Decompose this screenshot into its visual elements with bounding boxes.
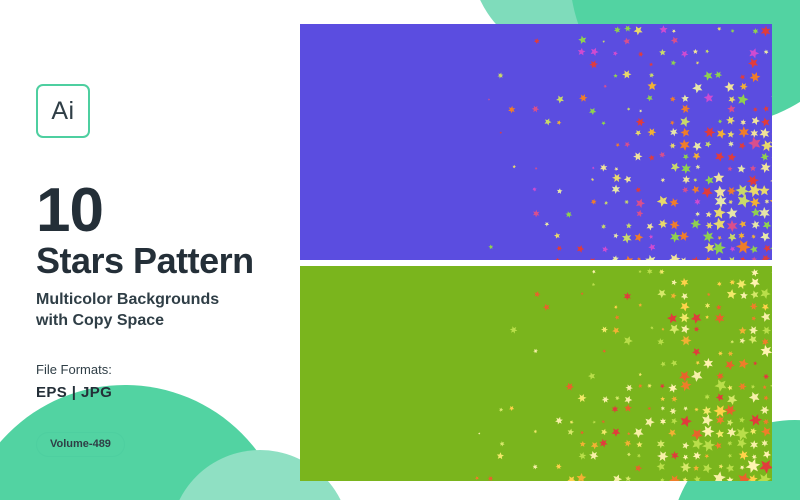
page-subtitle-line2: with Copy Space	[36, 310, 286, 331]
adobe-illustrator-ai-icon: Ai	[36, 84, 90, 138]
page-title: Stars Pattern	[36, 243, 286, 280]
info-column: Ai 10 Stars Pattern Multicolor Backgroun…	[36, 84, 286, 457]
item-count: 10	[36, 182, 286, 239]
volume-badge: Volume-489	[36, 432, 125, 457]
page-subtitle: Multicolor Backgrounds with Copy Space	[36, 289, 286, 331]
green-stars-preview[interactable]	[300, 266, 772, 481]
file-formats-value: EPS | JPG	[36, 384, 286, 401]
poster-canvas: Ai 10 Stars Pattern Multicolor Backgroun…	[0, 0, 800, 500]
purple-stars-preview[interactable]	[300, 24, 772, 260]
ai-badge-label: Ai	[51, 99, 74, 124]
file-formats-label: File Formats:	[36, 362, 286, 377]
page-subtitle-line1: Multicolor Backgrounds	[36, 289, 286, 310]
star-pattern-purple	[300, 24, 772, 260]
star-pattern-green	[300, 266, 772, 481]
